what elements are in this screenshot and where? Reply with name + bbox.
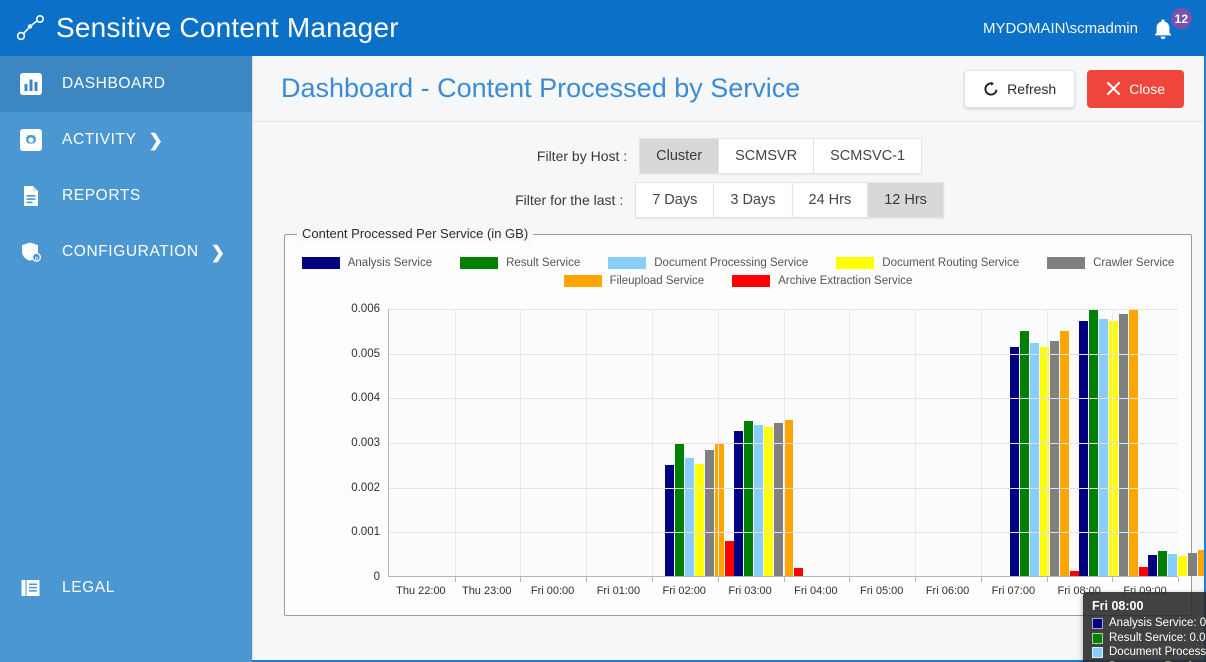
chevron-right-icon: ❯	[211, 244, 225, 261]
sidebar-item-dashboard[interactable]: DASHBOARD	[0, 56, 252, 112]
chart-plot: 0.0060.0050.0040.0030.0020.0010 Thu 22:0…	[340, 309, 1178, 609]
chart-bar[interactable]	[1020, 331, 1029, 576]
shield-e-icon: e	[18, 239, 44, 265]
y-axis-tick-label: 0.001	[351, 526, 380, 538]
y-axis-tick-label: 0.003	[351, 437, 380, 449]
chart-bar[interactable]	[665, 465, 674, 576]
legend-label: Document Routing Service	[882, 257, 1019, 269]
legend-swatch	[1047, 257, 1085, 269]
gridline-vertical	[652, 309, 653, 576]
chart-bar[interactable]	[1188, 553, 1197, 576]
chart-bar[interactable]	[774, 423, 783, 576]
page-header-actions: Refresh Close	[964, 70, 1184, 108]
x-axis-tick-label: Fri 05:00	[849, 585, 915, 597]
y-axis-labels: 0.0060.0050.0040.0030.0020.0010	[340, 309, 386, 577]
tooltip-text: Document Processing Service: 0.005754893…	[1109, 646, 1206, 660]
x-axis-tick	[1178, 577, 1179, 582]
sidebar-item-label: REPORTS	[62, 187, 141, 205]
gridline-vertical	[915, 309, 916, 576]
x-axis-tick	[784, 577, 785, 582]
legend-item[interactable]: Analysis Service	[302, 257, 432, 269]
sidebar-item-label: LEGAL	[62, 579, 115, 597]
chart-bar[interactable]	[1040, 347, 1049, 576]
sidebar-item-activity[interactable]: ACTIVITY ❯	[0, 112, 252, 168]
gridline-vertical	[586, 309, 587, 576]
period-option-3-days[interactable]: 3 Days	[713, 182, 791, 218]
legend-swatch	[836, 257, 874, 269]
x-axis-tick-label: Fri 07:00	[980, 585, 1046, 597]
x-axis-labels: Thu 22:00Thu 23:00Fri 00:00Fri 01:00Fri …	[388, 585, 1178, 597]
legend-swatch	[608, 257, 646, 269]
close-button[interactable]: Close	[1087, 70, 1184, 108]
chart-bar[interactable]	[1030, 343, 1039, 576]
chart-bar[interactable]	[725, 541, 734, 576]
close-x-icon	[1106, 81, 1121, 96]
y-axis-tick-label: 0	[374, 571, 380, 583]
app-title: Sensitive Content Manager	[56, 14, 399, 42]
x-axis-tick	[586, 577, 587, 582]
filter-row-period: Filter for the last : 7 Days 3 Days 24 H…	[253, 182, 1206, 218]
refresh-button-label: Refresh	[1007, 81, 1056, 97]
chart-title: Content Processed Per Service (in GB)	[297, 226, 533, 241]
x-axis-tick	[1112, 577, 1113, 582]
legal-book-icon	[18, 575, 44, 601]
x-axis-tick	[915, 577, 916, 582]
tooltip-swatch	[1092, 618, 1103, 629]
chart-bar[interactable]	[764, 427, 773, 576]
y-axis-tick-label: 0.006	[351, 303, 380, 315]
chart-bar[interactable]	[685, 458, 694, 576]
x-axis-tick	[1047, 577, 1048, 582]
chart-legend-row-1: Analysis ServiceResult ServiceDocument P…	[288, 257, 1189, 269]
x-axis-tick	[718, 577, 719, 582]
gear-icon	[18, 127, 44, 153]
legend-label: Archive Extraction Service	[778, 275, 912, 287]
legend-swatch	[302, 257, 340, 269]
chart-legend-row-2: Fileupload ServiceArchive Extraction Ser…	[550, 275, 927, 287]
plot-area	[388, 309, 1178, 577]
chart-bar[interactable]	[1148, 555, 1157, 576]
legend-item[interactable]: Fileupload Service	[564, 275, 705, 287]
chart-bar[interactable]	[695, 464, 704, 576]
chart-bar[interactable]	[1050, 341, 1059, 576]
filter-row-host: Filter by Host : Cluster SCMSVR SCMSVC-1	[253, 138, 1206, 174]
close-button-label: Close	[1129, 81, 1165, 97]
sidebar-item-configuration[interactable]: e CONFIGURATION ❯	[0, 224, 252, 280]
legend-item[interactable]: Result Service	[460, 257, 580, 269]
legend-item[interactable]: Document Processing Service	[608, 257, 808, 269]
tooltip-title: Fri 08:00	[1092, 599, 1206, 613]
chart-panel: Content Processed Per Service (in GB) An…	[284, 234, 1192, 616]
page-header: Dashboard - Content Processed by Service…	[253, 56, 1206, 122]
host-option-cluster[interactable]: Cluster	[639, 138, 718, 174]
sidebar-item-label: ACTIVITY	[62, 131, 137, 149]
bar-chart-icon	[18, 71, 44, 97]
period-option-12-hrs[interactable]: 12 Hrs	[867, 182, 944, 218]
x-axis-tick	[455, 577, 456, 582]
chart-bar[interactable]	[1158, 551, 1167, 576]
tooltip-swatch	[1092, 647, 1103, 658]
x-axis-tick-label: Fri 03:00	[717, 585, 783, 597]
x-axis-tick	[520, 577, 521, 582]
filters-section: Filter by Host : Cluster SCMSVR SCMSVC-1…	[253, 122, 1206, 218]
host-segmented-control: Cluster SCMSVR SCMSVC-1	[639, 138, 922, 174]
page-title: Dashboard - Content Processed by Service	[281, 73, 800, 104]
legend-swatch	[460, 257, 498, 269]
chevron-right-icon: ❯	[149, 132, 163, 149]
x-axis-tick-label: Fri 01:00	[585, 585, 651, 597]
chart-legend: Analysis ServiceResult ServiceDocument P…	[285, 257, 1191, 287]
legend-item[interactable]: Crawler Service	[1047, 257, 1174, 269]
gridline-vertical	[718, 309, 719, 576]
chart-bar[interactable]	[1099, 319, 1108, 576]
chart-bar[interactable]	[675, 443, 684, 576]
gridline-vertical	[849, 309, 850, 576]
x-axis-tick-label: Fri 00:00	[520, 585, 586, 597]
period-segmented-control: 7 Days 3 Days 24 Hrs 12 Hrs	[635, 182, 944, 218]
gridline-vertical	[1112, 309, 1113, 576]
top-header-bar: Sensitive Content Manager MYDOMAIN\scmad…	[0, 0, 1206, 56]
tooltip-row: Result Service: 0.0059533212	[1092, 632, 1206, 646]
x-axis-tick	[981, 577, 982, 582]
chart-bar[interactable]	[1010, 347, 1019, 576]
legend-label: Document Processing Service	[654, 257, 808, 269]
legend-label: Fileupload Service	[610, 275, 705, 287]
sidebar-item-reports[interactable]: REPORTS	[0, 168, 252, 224]
x-axis-tick-label: Fri 02:00	[651, 585, 717, 597]
y-axis-tick-label: 0.005	[351, 348, 380, 360]
brand: Sensitive Content Manager	[0, 11, 399, 45]
tooltip-row: Analysis Service: 0.0057153124	[1092, 617, 1206, 631]
sidebar-item-legal[interactable]: LEGAL	[0, 560, 252, 616]
gridline-vertical	[455, 309, 456, 576]
legend-swatch	[732, 275, 770, 287]
tooltip-text: Analysis Service: 0.0057153124	[1109, 617, 1206, 631]
tooltip-swatch	[1092, 633, 1103, 644]
x-axis-tick	[652, 577, 653, 582]
main-content-panel: Dashboard - Content Processed by Service…	[252, 56, 1206, 662]
document-icon	[18, 183, 44, 209]
node-graph-icon	[14, 11, 48, 45]
app-window: Sensitive Content Manager MYDOMAIN\scmad…	[0, 0, 1206, 662]
sidebar-item-label: CONFIGURATION	[62, 243, 199, 261]
x-axis-tick	[849, 577, 850, 582]
chart-bar[interactable]	[1168, 554, 1177, 576]
filter-host-label: Filter by Host :	[537, 148, 627, 164]
notification-count-badge: 12	[1171, 8, 1192, 29]
y-axis-tick-label: 0.004	[351, 392, 380, 404]
gridline-vertical	[981, 309, 982, 576]
chart-bar[interactable]	[1178, 556, 1187, 576]
filter-period-label: Filter for the last :	[515, 192, 623, 208]
x-axis-tick-label: Thu 23:00	[454, 585, 520, 597]
gridline-vertical	[784, 309, 785, 576]
notifications-button[interactable]: 12	[1152, 12, 1182, 44]
tooltip-rows: Analysis Service: 0.0057153124Result Ser…	[1092, 617, 1206, 662]
gridline-vertical	[520, 309, 521, 576]
legend-label: Result Service	[506, 257, 580, 269]
x-axis-tick-label: Fri 04:00	[783, 585, 849, 597]
chart-tooltip: Fri 08:00 Analysis Service: 0.0057153124…	[1083, 592, 1206, 662]
period-option-7-days[interactable]: 7 Days	[635, 182, 713, 218]
chart-bar[interactable]	[754, 425, 763, 576]
chart-bar[interactable]	[715, 444, 724, 576]
sidebar-navigation: DASHBOARD ACTIVITY ❯	[0, 56, 252, 662]
chart-bar[interactable]	[1060, 331, 1069, 576]
refresh-icon	[983, 81, 999, 97]
host-option-scmsvr[interactable]: SCMSVR	[718, 138, 813, 174]
x-axis-tick-label: Thu 22:00	[388, 585, 454, 597]
legend-swatch	[564, 275, 602, 287]
chart-bar[interactable]	[1079, 321, 1088, 576]
gridline-vertical	[1047, 309, 1048, 576]
legend-label: Crawler Service	[1093, 257, 1174, 269]
chart-bar[interactable]	[794, 568, 803, 576]
chart-bar[interactable]	[1139, 567, 1148, 576]
topbar-right-group: MYDOMAIN\scmadmin 12	[983, 12, 1206, 44]
chart-bar[interactable]	[1109, 321, 1118, 576]
x-axis-tick-label: Fri 06:00	[915, 585, 981, 597]
legend-label: Analysis Service	[348, 257, 432, 269]
chart-bar[interactable]	[705, 450, 714, 576]
current-user-label: MYDOMAIN\scmadmin	[983, 20, 1138, 37]
period-option-24-hrs[interactable]: 24 Hrs	[792, 182, 868, 218]
tooltip-row: Document Processing Service: 0.005754893…	[1092, 646, 1206, 660]
host-option-scmsvc-1[interactable]: SCMSVC-1	[813, 138, 922, 174]
legend-item[interactable]: Archive Extraction Service	[732, 275, 912, 287]
chart-bar[interactable]	[734, 431, 743, 576]
tooltip-text: Result Service: 0.0059533212	[1109, 632, 1206, 646]
refresh-button[interactable]: Refresh	[964, 70, 1075, 108]
chart-bar[interactable]	[1070, 571, 1079, 576]
sidebar-item-label: DASHBOARD	[62, 75, 166, 93]
legend-item[interactable]: Document Routing Service	[836, 257, 1019, 269]
y-axis-tick-label: 0.002	[351, 482, 380, 494]
